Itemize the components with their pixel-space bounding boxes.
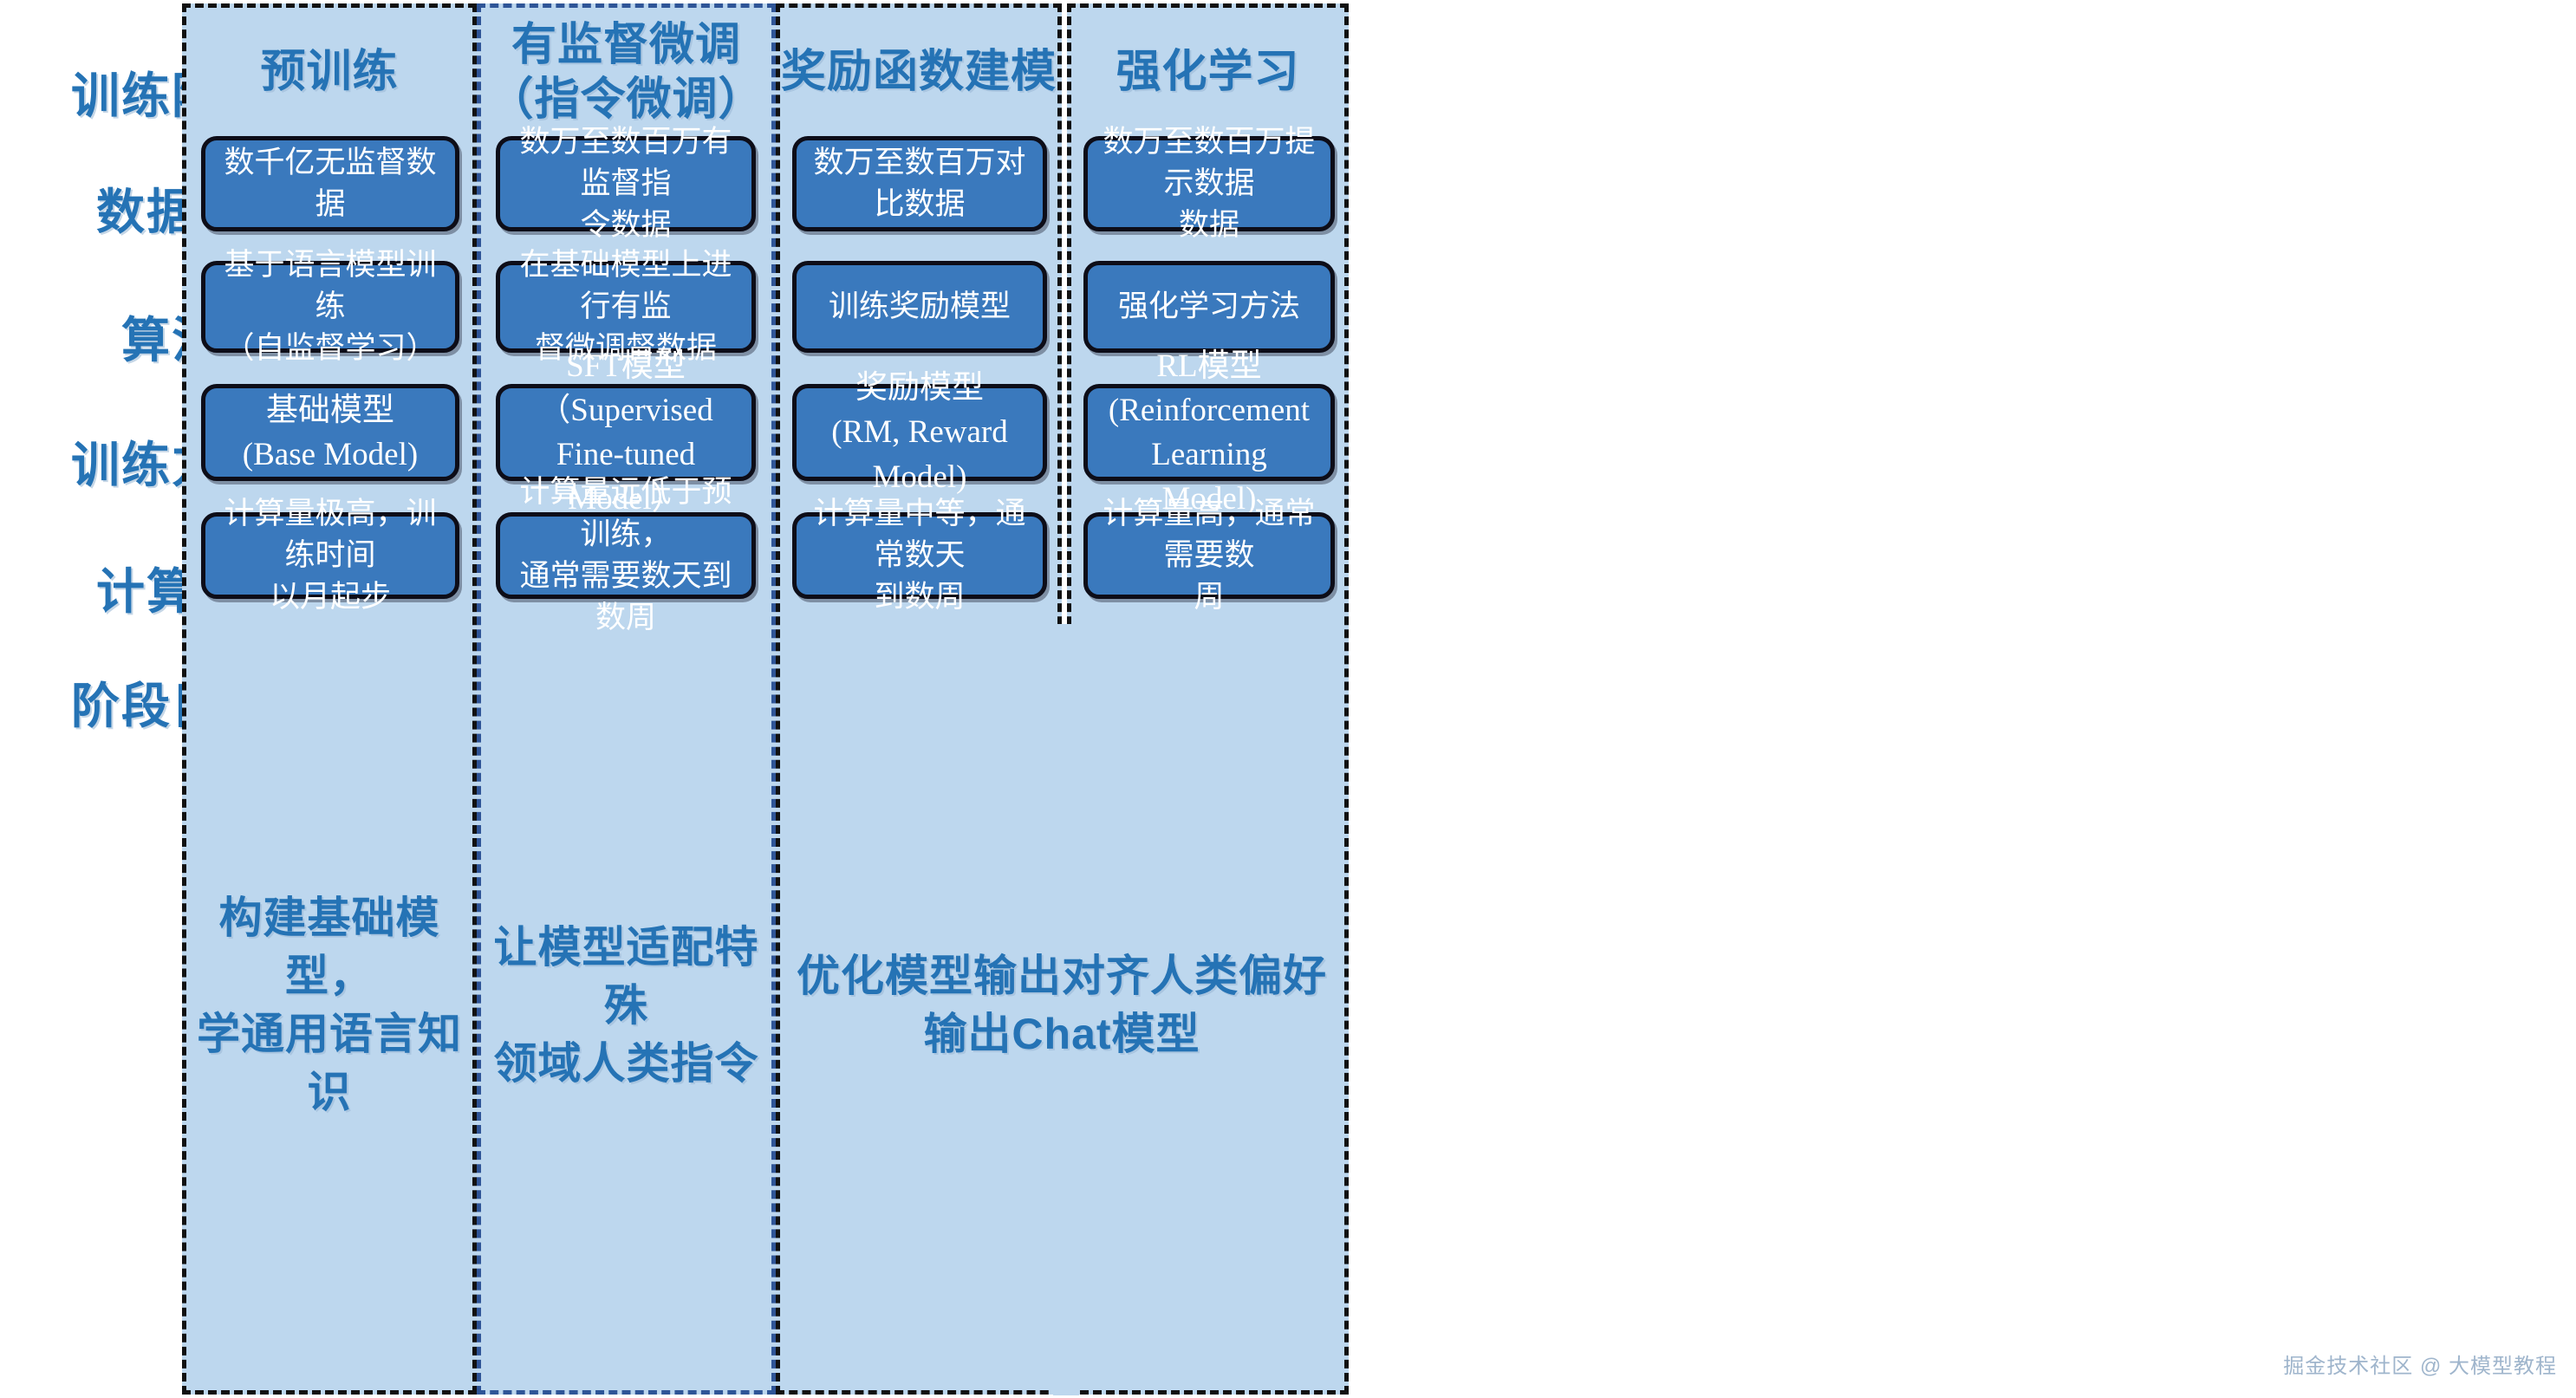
- cell-compute-rl: 计算量高，通常需要数周: [1083, 512, 1335, 599]
- cell-compute-pretraining: 计算量极高，训练时间以月起步: [201, 512, 459, 599]
- column-header-pretraining: 预训练: [182, 12, 477, 133]
- cell-data-volume-reward-model: 数万至数百万对比数据: [792, 136, 1047, 231]
- cell-data-volume-sft: 数万至数百万有监督指令数据: [496, 136, 756, 231]
- cell-algorithm-reward-model: 训练奖励模型: [792, 261, 1047, 353]
- cell-training-mode-pretraining: 基础模型(Base Model): [201, 384, 459, 481]
- cell-algorithm-pretraining: 基于语言模型训练（自监督学习）: [201, 261, 459, 353]
- cell-algorithm-sft: 在基础模型上进行有监督微调督数据: [496, 261, 756, 353]
- watermark: 掘金技术社区 @ 大模型教程: [2283, 1349, 2557, 1379]
- goal-sft: 让模型适配特殊领域人类指令: [482, 624, 771, 1387]
- goal-pretraining: 构建基础模型，学通用语言知识: [187, 624, 472, 1387]
- column-header-rl: 强化学习: [1067, 12, 1349, 133]
- cell-training-mode-sft: SFT模型（Supervised Fine-tunedModel）: [496, 384, 756, 481]
- cell-data-volume-pretraining: 数千亿无监督数据: [201, 136, 459, 231]
- cell-training-mode-rl: RL模型(Reinforcement LearningModel): [1083, 384, 1335, 481]
- cell-algorithm-rl: 强化学习方法: [1083, 261, 1335, 353]
- cell-training-mode-reward-model: 奖励模型(RM, Reward Model): [792, 384, 1047, 481]
- cell-compute-reward-model: 计算量中等，通常数天到数周: [792, 512, 1047, 599]
- column-header-sft: 有监督微调（指令微调）: [477, 12, 776, 133]
- cell-compute-sft: 计算量远低于预训练，通常需要数天到数周: [496, 512, 756, 599]
- goal-merged-rm-rl: 优化模型输出对齐人类偏好输出Chat模型: [780, 624, 1343, 1387]
- column-header-reward-model: 奖励函数建模: [776, 12, 1062, 133]
- training-stage-comparison-diagram: 训练阶段 数据量 算法 训练方式 计算量 阶段目标 预训练 有监督微调（指令微调…: [0, 0, 2576, 1398]
- cell-data-volume-rl: 数万至数百万提示数据数据: [1083, 136, 1335, 231]
